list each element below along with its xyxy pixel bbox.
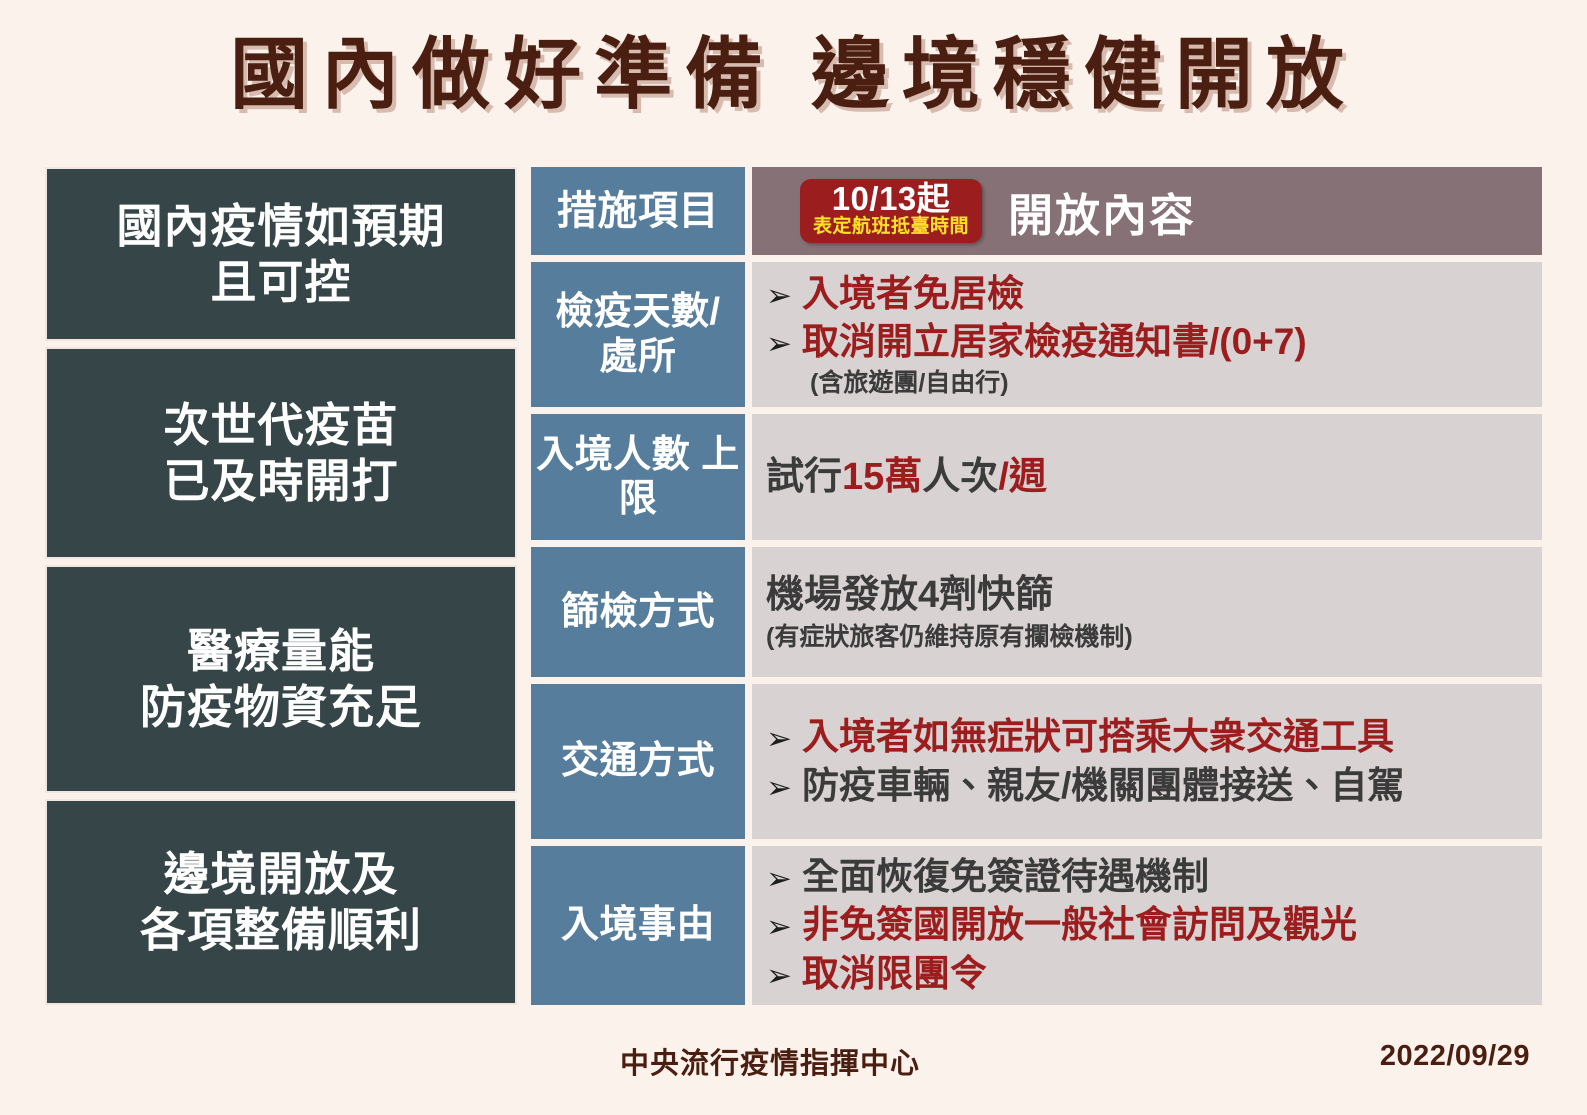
table-row-transport: 交通方式 ➢ 入境者如無症狀可搭乘大衆交通工具 ➢ 防疫車輛、親友/機關團體接送… bbox=[531, 684, 1542, 839]
left-condition-box-3-line2: 防疫物資充足 bbox=[140, 679, 422, 735]
left-condition-box-4-line1: 邊境開放及 bbox=[140, 846, 422, 902]
left-condition-box-2-line2: 已及時開打 bbox=[164, 453, 399, 509]
table-header-row: 措施項目 10/13起 表定航班抵臺時間 開放內容 bbox=[531, 167, 1542, 255]
bullet-text: 全面恢復免簽證待遇機制 bbox=[802, 853, 1209, 901]
bullet-item: ➢ 取消開立居家檢疫通知書/(0+7) bbox=[766, 318, 1536, 366]
table-row-arrival-cap-label: 入境人數 上限 bbox=[531, 414, 745, 540]
table-row-entry-purpose-content: ➢ 全面恢復免簽證待遇機制 ➢ 非免簽國開放一般社會訪問及觀光 ➢ 取消限團令 bbox=[752, 846, 1542, 1005]
effective-date-badge: 10/13起 表定航班抵臺時間 bbox=[800, 179, 982, 243]
table-header-content-cell: 10/13起 表定航班抵臺時間 開放內容 bbox=[752, 167, 1542, 255]
bullet-item: ➢ 入境者免居檢 bbox=[766, 270, 1536, 318]
footer-organization: 中央流行疫情指揮中心 bbox=[620, 1040, 920, 1082]
table-row-testing-label-line1: 篩檢方式 bbox=[561, 590, 715, 634]
left-condition-box-4-line2: 各項整備順利 bbox=[140, 902, 422, 958]
page-title: 國內做好準備 邊境穩健開放 bbox=[230, 34, 1357, 116]
table-row-entry-purpose: 入境事由 ➢ 全面恢復免簽證待遇機制 ➢ 非免簽國開放一般社會訪問及觀光 ➢ 取… bbox=[531, 846, 1542, 1005]
table-row-arrival-cap-label-line1: 入境人數 bbox=[536, 434, 690, 476]
table-row-transport-content: ➢ 入境者如無症狀可搭乘大衆交通工具 ➢ 防疫車輛、親友/機關團體接送、自駕 bbox=[752, 684, 1542, 839]
table-row-quarantine-note: (含旅遊團/自由行) bbox=[766, 367, 1536, 400]
table-header-content-label: 開放內容 bbox=[1008, 179, 1196, 244]
testing-statement: 機場發放4劑快篩 bbox=[766, 571, 1536, 620]
left-condition-box-1-line1: 國內疫情如預期 bbox=[117, 198, 446, 254]
bullet-item: ➢ 非免簽國開放一般社會訪問及觀光 bbox=[766, 901, 1536, 949]
bullet-text: 入境者免居檢 bbox=[802, 270, 1024, 318]
left-condition-box-1-line2: 且可控 bbox=[117, 254, 446, 310]
table-row-quarantine-label: 檢疫天數/ 處所 bbox=[531, 262, 745, 407]
arrow-bullet-icon: ➢ bbox=[766, 719, 792, 759]
arrival-cap-part-2: 15萬 bbox=[842, 456, 922, 498]
arrow-bullet-icon: ➢ bbox=[766, 859, 792, 899]
effective-date-badge-main: 10/13起 bbox=[813, 182, 969, 217]
bullet-text: 非免簽國開放一般社會訪問及觀光 bbox=[802, 901, 1357, 949]
left-condition-box-4: 邊境開放及 各項整備順利 bbox=[45, 799, 517, 1005]
table-row-arrival-cap-content: 試行15萬人次/週 bbox=[752, 414, 1542, 540]
effective-date-badge-sub: 表定航班抵臺時間 bbox=[813, 216, 969, 238]
arrival-cap-part-4: /週 bbox=[998, 456, 1047, 498]
bullet-item: ➢ 全面恢復免簽證待遇機制 bbox=[766, 853, 1536, 901]
footer: 中央流行疫情指揮中心 2022/09/29 bbox=[0, 1040, 1587, 1090]
table-row-entry-purpose-label: 入境事由 bbox=[531, 846, 745, 1005]
page-title-bar: 國內做好準備 邊境穩健開放 bbox=[0, 34, 1587, 116]
left-condition-box-2: 次世代疫苗 已及時開打 bbox=[45, 347, 517, 559]
bullet-item: ➢ 取消限團令 bbox=[766, 950, 1536, 998]
left-condition-box-3-line1: 醫療量能 bbox=[140, 623, 422, 679]
table-row-transport-label-line1: 交通方式 bbox=[561, 739, 715, 783]
left-condition-box-1: 國內疫情如預期 且可控 bbox=[45, 167, 517, 341]
bullet-text: 取消限團令 bbox=[802, 950, 987, 998]
footer-date: 2022/09/29 bbox=[1380, 1040, 1530, 1073]
arrival-cap-part-3: 人次 bbox=[922, 456, 998, 498]
bullet-item: ➢ 入境者如無症狀可搭乘大衆交通工具 bbox=[766, 713, 1536, 761]
arrow-bullet-icon: ➢ bbox=[766, 276, 792, 316]
left-condition-panel: 國內疫情如預期 且可控 次世代疫苗 已及時開打 醫療量能 防疫物資充足 邊境開放… bbox=[45, 167, 517, 1005]
arrow-bullet-icon: ➢ bbox=[766, 956, 792, 996]
arrow-bullet-icon: ➢ bbox=[766, 324, 792, 364]
table-row-transport-label: 交通方式 bbox=[531, 684, 745, 839]
table-row-testing-content: 機場發放4劑快篩 (有症狀旅客仍維持原有攔檢機制) bbox=[752, 547, 1542, 677]
arrow-bullet-icon: ➢ bbox=[766, 768, 792, 808]
bullet-text: 防疫車輛、親友/機關團體接送、自駕 bbox=[802, 762, 1404, 810]
table-row-testing-note: (有症狀旅客仍維持原有攔檢機制) bbox=[766, 621, 1536, 654]
arrival-cap-part-1: 試行 bbox=[766, 456, 842, 498]
bullet-text: 取消開立居家檢疫通知書/(0+7) bbox=[802, 318, 1307, 366]
left-condition-box-3: 醫療量能 防疫物資充足 bbox=[45, 565, 517, 793]
table-row-testing: 篩檢方式 機場發放4劑快篩 (有症狀旅客仍維持原有攔檢機制) bbox=[531, 547, 1542, 677]
table-row-quarantine: 檢疫天數/ 處所 ➢ 入境者免居檢 ➢ 取消開立居家檢疫通知書/(0+7) (含… bbox=[531, 262, 1542, 407]
table-row-quarantine-label-line1: 檢疫天數/ bbox=[555, 291, 720, 333]
measures-table: 措施項目 10/13起 表定航班抵臺時間 開放內容 檢疫天數/ 處所 ➢ 入境者… bbox=[531, 167, 1542, 1005]
table-row-quarantine-content: ➢ 入境者免居檢 ➢ 取消開立居家檢疫通知書/(0+7) (含旅遊團/自由行) bbox=[752, 262, 1542, 407]
table-row-testing-label: 篩檢方式 bbox=[531, 547, 745, 677]
arrival-cap-statement: 試行15萬人次/週 bbox=[766, 453, 1536, 502]
table-header-measure-label: 措施項目 bbox=[557, 188, 719, 234]
table-row-entry-purpose-label-line1: 入境事由 bbox=[561, 903, 715, 947]
bullet-item: ➢ 防疫車輛、親友/機關團體接送、自駕 bbox=[766, 762, 1536, 810]
bullet-text: 入境者如無症狀可搭乘大衆交通工具 bbox=[802, 713, 1394, 761]
table-header-measure-cell: 措施項目 bbox=[531, 167, 745, 255]
left-condition-box-2-line1: 次世代疫苗 bbox=[164, 397, 399, 453]
table-row-quarantine-label-line2: 處所 bbox=[599, 336, 676, 378]
table-row-arrival-cap: 入境人數 上限 試行15萬人次/週 bbox=[531, 414, 1542, 540]
arrow-bullet-icon: ➢ bbox=[766, 907, 792, 947]
